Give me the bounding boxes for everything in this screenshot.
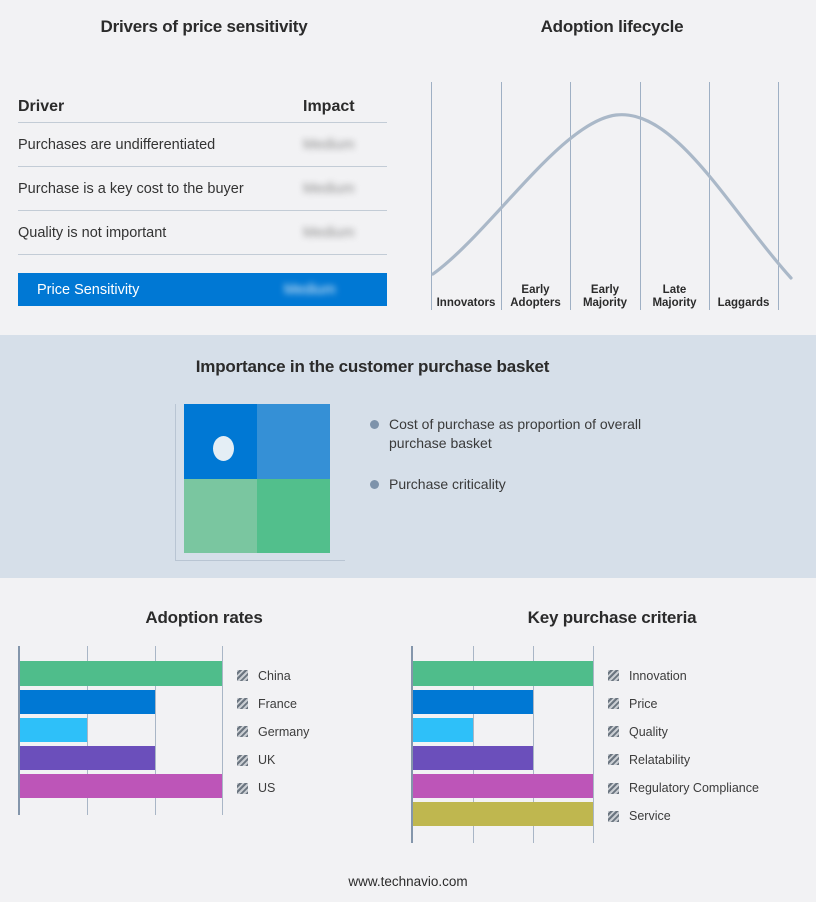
key-purchase-criteria-title: Key purchase criteria	[408, 608, 816, 628]
lifecycle-label-late-majority: Late Majority	[640, 284, 709, 310]
drivers-title: Drivers of price sensitivity	[0, 17, 408, 37]
lifecycle-label-text: Early	[501, 284, 570, 297]
table-header-row: Driver Impact	[18, 92, 387, 122]
lifecycle-label-text: Majority	[640, 297, 709, 310]
chart-gridline	[593, 646, 594, 843]
legend-item-label: US	[258, 781, 275, 795]
legend-item-label: Quality	[629, 725, 668, 739]
legend-item-label: Regulatory Compliance	[629, 781, 759, 795]
hatched-swatch-icon	[237, 698, 248, 709]
legend-item: Quality	[608, 718, 808, 746]
adoption-rates-legend: ChinaFranceGermanyUKUS	[237, 646, 397, 802]
purchase-basket-matrix	[175, 404, 345, 564]
hatched-swatch-icon	[237, 670, 248, 681]
legend-item: Cost of purchase as proportion of overal…	[370, 415, 700, 453]
key-purchase-criteria-panel: Key purchase criteria InnovationPriceQua…	[408, 578, 816, 902]
legend-item-label: Germany	[258, 725, 309, 739]
legend-item: UK	[237, 746, 397, 774]
hatched-swatch-icon	[608, 698, 619, 709]
hatched-swatch-icon	[608, 754, 619, 765]
matrix-cell-bottom-left	[184, 479, 257, 554]
bar-uk	[20, 746, 155, 770]
legend-item: Relatability	[608, 746, 808, 774]
legend-item-label: Cost of purchase as proportion of overal…	[389, 415, 659, 453]
legend-item: US	[237, 774, 397, 802]
legend-item: China	[237, 661, 397, 689]
bar-service	[413, 802, 593, 826]
lifecycle-label-text: Majority	[570, 297, 640, 310]
hatched-swatch-icon	[608, 670, 619, 681]
bar-price	[413, 690, 533, 714]
key-purchase-criteria-plot	[411, 646, 593, 843]
white-circle-marker	[213, 436, 234, 461]
matrix-y-axis	[175, 404, 176, 560]
purchase-basket-band: Importance in the customer purchase bask…	[0, 335, 816, 578]
legend-item: Innovation	[608, 661, 808, 689]
column-header-driver: Driver	[18, 98, 303, 116]
bar-germany	[20, 718, 87, 742]
hatched-swatch-icon	[237, 755, 248, 766]
hatched-swatch-icon	[608, 811, 619, 822]
matrix-cell-bottom-right	[257, 479, 330, 554]
driver-cell: Purchases are undifferentiated	[18, 137, 303, 153]
matrix-x-axis	[175, 560, 345, 561]
legend-item: Purchase criticality	[370, 475, 700, 494]
drivers-table: Driver Impact Purchases are undifferenti…	[18, 92, 387, 255]
footer-url: www.technavio.com	[0, 874, 816, 889]
table-row: Purchases are undifferentiated Medium	[18, 123, 387, 166]
bar-us	[20, 774, 222, 798]
legend-item-label: Service	[629, 809, 671, 823]
impact-cell: Medium	[303, 181, 387, 197]
table-row: Purchase is a key cost to the buyer Medi…	[18, 167, 387, 210]
hatched-swatch-icon	[608, 726, 619, 737]
bar-quality	[413, 718, 473, 742]
hatched-swatch-icon	[608, 783, 619, 794]
adoption-rates-plot	[18, 646, 222, 815]
bar-china	[20, 661, 222, 685]
legend-item-label: Purchase criticality	[389, 475, 506, 494]
legend-item-label: Price	[629, 697, 657, 711]
table-row: Quality is not important Medium	[18, 211, 387, 254]
adoption-rates-panel: Adoption rates ChinaFranceGermanyUKUS	[0, 578, 408, 902]
lifecycle-label-laggards: Laggards	[709, 297, 778, 310]
lifecycle-label-text: Laggards	[718, 297, 770, 309]
legend-item: Service	[608, 802, 808, 830]
legend-item-label: Innovation	[629, 669, 687, 683]
driver-cell: Quality is not important	[18, 225, 303, 241]
lifecycle-label-early-majority: Early Majority	[570, 284, 640, 310]
bar-regulatory-compliance	[413, 774, 593, 798]
adoption-lifecycle-panel: Adoption lifecycle Innovators Early Adop…	[408, 0, 816, 335]
hatched-swatch-icon	[237, 783, 248, 794]
column-header-impact: Impact	[303, 98, 387, 116]
impact-cell: Medium	[303, 137, 387, 153]
legend-item: France	[237, 690, 397, 718]
legend-item-label: China	[258, 669, 291, 683]
bullet-dot-icon	[370, 420, 379, 429]
legend-item-label: UK	[258, 753, 275, 767]
hatched-swatch-icon	[237, 726, 248, 737]
legend-item: Price	[608, 690, 808, 718]
lifecycle-title: Adoption lifecycle	[408, 17, 816, 37]
lifecycle-curve	[431, 82, 793, 310]
matrix-cell-top-right	[257, 404, 330, 479]
lifecycle-label-text: Early	[570, 284, 640, 297]
drivers-panel: Drivers of price sensitivity Driver Impa…	[0, 0, 408, 335]
lifecycle-label-early-adopters: Early Adopters	[501, 284, 570, 310]
highlight-impact-value: Medium	[284, 282, 387, 298]
legend-item-label: France	[258, 697, 297, 711]
key-purchase-criteria-legend: InnovationPriceQualityRelatabilityRegula…	[608, 646, 808, 830]
lifecycle-label-innovators: Innovators	[431, 297, 501, 310]
basket-title: Importance in the customer purchase bask…	[0, 357, 745, 377]
highlight-driver-label: Price Sensitivity	[18, 282, 284, 298]
table-divider	[18, 254, 387, 255]
basket-legend: Cost of purchase as proportion of overal…	[370, 415, 700, 516]
legend-item-label: Relatability	[629, 753, 690, 767]
matrix-quadrants	[184, 404, 330, 553]
bar-france	[20, 690, 155, 714]
chart-gridline	[222, 646, 223, 815]
bar-relatability	[413, 746, 533, 770]
adoption-rates-title: Adoption rates	[0, 608, 408, 628]
lifecycle-label-text: Late	[640, 284, 709, 297]
lifecycle-plot: Innovators Early Adopters Early Majority…	[431, 82, 793, 310]
lifecycle-label-text: Innovators	[437, 297, 496, 309]
legend-item: Germany	[237, 718, 397, 746]
impact-cell: Medium	[303, 225, 387, 241]
legend-item: Regulatory Compliance	[608, 774, 808, 802]
bullet-dot-icon	[370, 480, 379, 489]
infographic-page: Drivers of price sensitivity Driver Impa…	[0, 0, 816, 902]
driver-cell: Purchase is a key cost to the buyer	[18, 181, 303, 197]
lifecycle-label-text: Adopters	[501, 297, 570, 310]
price-sensitivity-highlight-row: Price Sensitivity Medium	[18, 273, 387, 306]
bar-innovation	[413, 661, 593, 685]
